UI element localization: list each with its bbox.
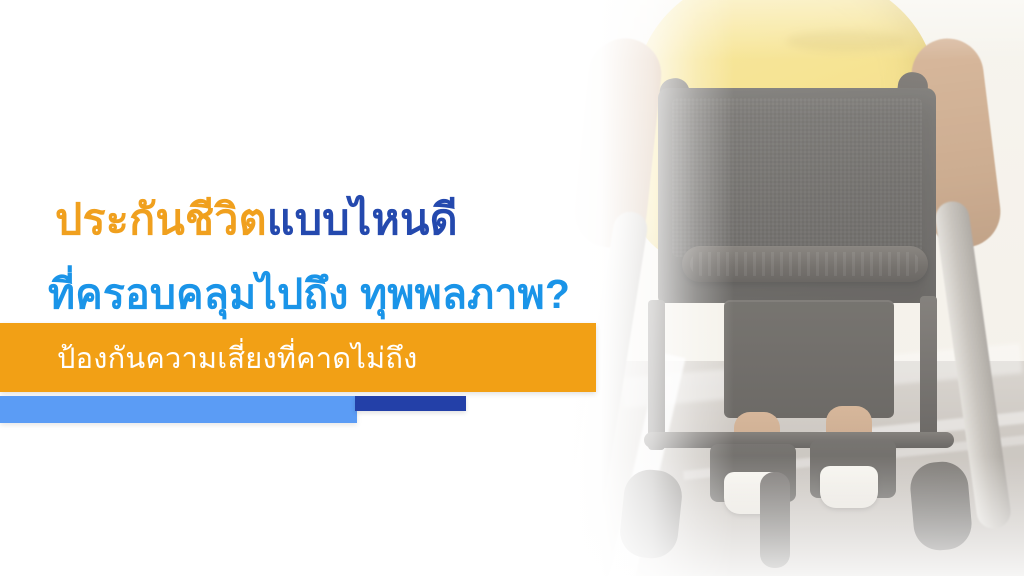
wheelchair-photo (564, 0, 1024, 576)
wheelchair-center-wheel (760, 472, 790, 568)
wheelchair-caster-wheel (908, 460, 973, 553)
wheelchair-frame-post (648, 300, 665, 450)
wheelchair-armrest (682, 246, 928, 282)
photo-artwork (564, 0, 1024, 576)
callout-text: ป้องกันความเสี่ยงที่คาดไม่ถึง (57, 335, 417, 381)
dark-blue-accent-bar (355, 396, 466, 411)
light-blue-accent-bar (0, 396, 357, 423)
person-shoe (820, 466, 878, 508)
headline-line1-highlight: ประกันชีวิต (55, 196, 267, 244)
wheelchair-cross-bar (644, 432, 954, 448)
wheelchair-frame-post (920, 296, 937, 448)
shirt-fold (786, 30, 906, 52)
headline-line2: ที่ครอบคลุมไปถึง ทุพพลภาพ? (48, 262, 570, 327)
headline-line1-rest: แบบไหนดี (267, 196, 458, 244)
wheelchair-seat-pocket (724, 300, 894, 418)
marketing-banner: ประกันชีวิตแบบไหนดี ที่ครอบคลุมไปถึง ทุพ… (0, 0, 1024, 576)
callout-banner: ป้องกันความเสี่ยงที่คาดไม่ถึง (0, 323, 596, 392)
headline: ประกันชีวิตแบบไหนดี (55, 196, 458, 246)
